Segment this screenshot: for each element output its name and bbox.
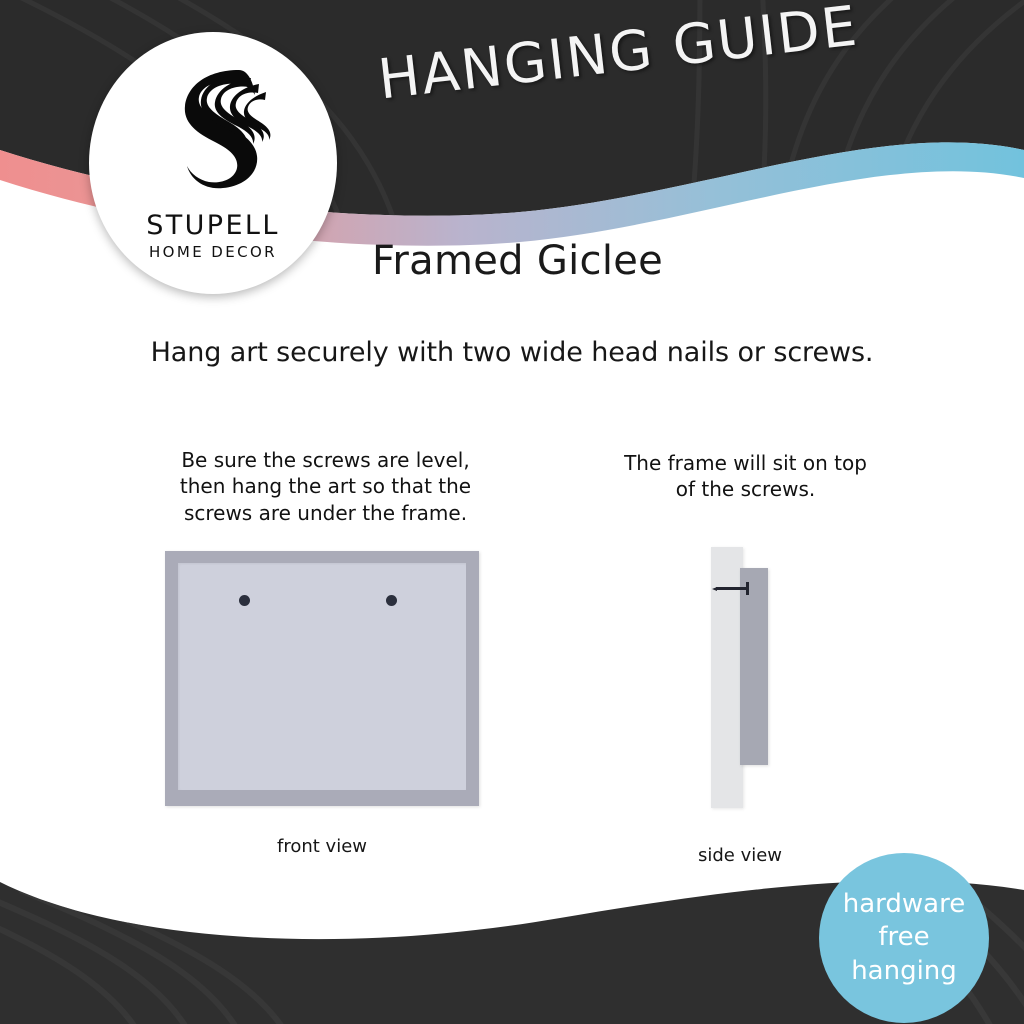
logo-tagline: HOME DECOR — [89, 243, 337, 261]
front-view-frame-diagram — [165, 551, 479, 806]
nail-head-icon — [746, 582, 749, 595]
stupell-swoosh-icon — [147, 62, 279, 190]
badge-line: free — [878, 921, 929, 954]
side-view-caption: The frame will sit on top of the screws. — [598, 450, 893, 503]
main-instruction-text: Hang art securely with two wide head nai… — [0, 337, 1024, 368]
hardware-free-hanging-badge: hardware free hanging — [819, 853, 989, 1023]
caption-line: The frame will sit on top — [598, 450, 893, 476]
brand-logo-badge: STUPELL HOME DECOR — [89, 32, 337, 294]
screw-dot-left — [239, 595, 250, 606]
caption-line: then hang the art so that the — [163, 473, 488, 499]
product-name: Framed Giclee — [372, 238, 663, 284]
hanging-guide-page: HANGING GUIDE STUPELL HOME DECOR Framed … — [0, 0, 1024, 1024]
caption-line: Be sure the screws are level, — [163, 447, 488, 473]
badge-line: hardware — [843, 888, 965, 921]
badge-line: hanging — [851, 955, 957, 988]
screw-dot-right — [386, 595, 397, 606]
caption-line: of the screws. — [598, 476, 893, 502]
side-view-frame — [740, 568, 768, 765]
front-view-caption: Be sure the screws are level, then hang … — [163, 447, 488, 526]
nail-shaft-icon — [716, 587, 749, 590]
logo-brand-name: STUPELL — [89, 210, 337, 241]
front-view-frame-inner — [178, 563, 466, 790]
caption-line: screws are under the frame. — [163, 500, 488, 526]
